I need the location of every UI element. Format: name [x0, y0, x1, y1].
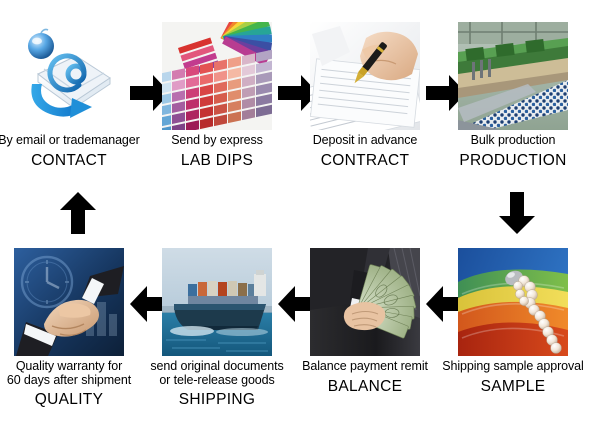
step-caption: Bulk production	[452, 134, 574, 148]
businessman-fan-of-dollar-bills-icon	[310, 248, 420, 356]
hand-signing-contract-pen-icon	[310, 22, 420, 130]
step-production[interactable]: Bulk production PRODUCTION	[452, 22, 574, 170]
textile-printing-machine-icon	[458, 22, 568, 130]
step-title: PRODUCTION	[452, 151, 574, 170]
handshake-clock-warranty-icon	[14, 248, 124, 356]
step-caption: Balance payment remit	[290, 360, 440, 374]
step-caption: Deposit in advance	[304, 134, 426, 148]
workflow-diagram: By email or trademanager CONTACT	[0, 0, 601, 438]
step-title: SHIPPING	[142, 390, 292, 409]
step-balance[interactable]: Balance payment remit BALANCE	[290, 248, 440, 396]
step-title: BALANCE	[290, 377, 440, 396]
step-shipping[interactable]: send original documents or tele-release …	[142, 248, 292, 409]
step-caption: Shipping sample approval	[438, 360, 588, 374]
step-title: SAMPLE	[438, 377, 588, 396]
container-ship-at-sea-icon	[162, 248, 272, 356]
email-at-symbol-envelope-icon	[14, 22, 124, 130]
colorful-fabric-with-pearl-necklace-icon	[458, 248, 568, 356]
step-contact[interactable]: By email or trademanager CONTACT	[0, 22, 144, 170]
step-title: LAB DIPS	[156, 151, 278, 170]
step-lab-dips[interactable]: Send by express LAB DIPS	[156, 22, 278, 170]
step-contract[interactable]: Deposit in advance CONTRACT	[304, 22, 426, 170]
step-caption: send original documents or tele-release …	[142, 360, 292, 387]
step-quality[interactable]: Quality warranty for 60 days after shipm…	[0, 248, 144, 409]
arrow-down-icon	[497, 190, 537, 236]
step-caption: Quality warranty for 60 days after shipm…	[0, 360, 144, 387]
step-title: CONTACT	[0, 151, 144, 170]
step-caption: Send by express	[156, 134, 278, 148]
step-title: QUALITY	[0, 390, 144, 409]
step-sample[interactable]: Shipping sample approval SAMPLE	[438, 248, 588, 396]
step-caption: By email or trademanager	[0, 134, 144, 148]
arrow-up-icon	[58, 190, 98, 236]
step-title: CONTRACT	[304, 151, 426, 170]
color-swatch-fan-deck-icon	[162, 22, 272, 130]
